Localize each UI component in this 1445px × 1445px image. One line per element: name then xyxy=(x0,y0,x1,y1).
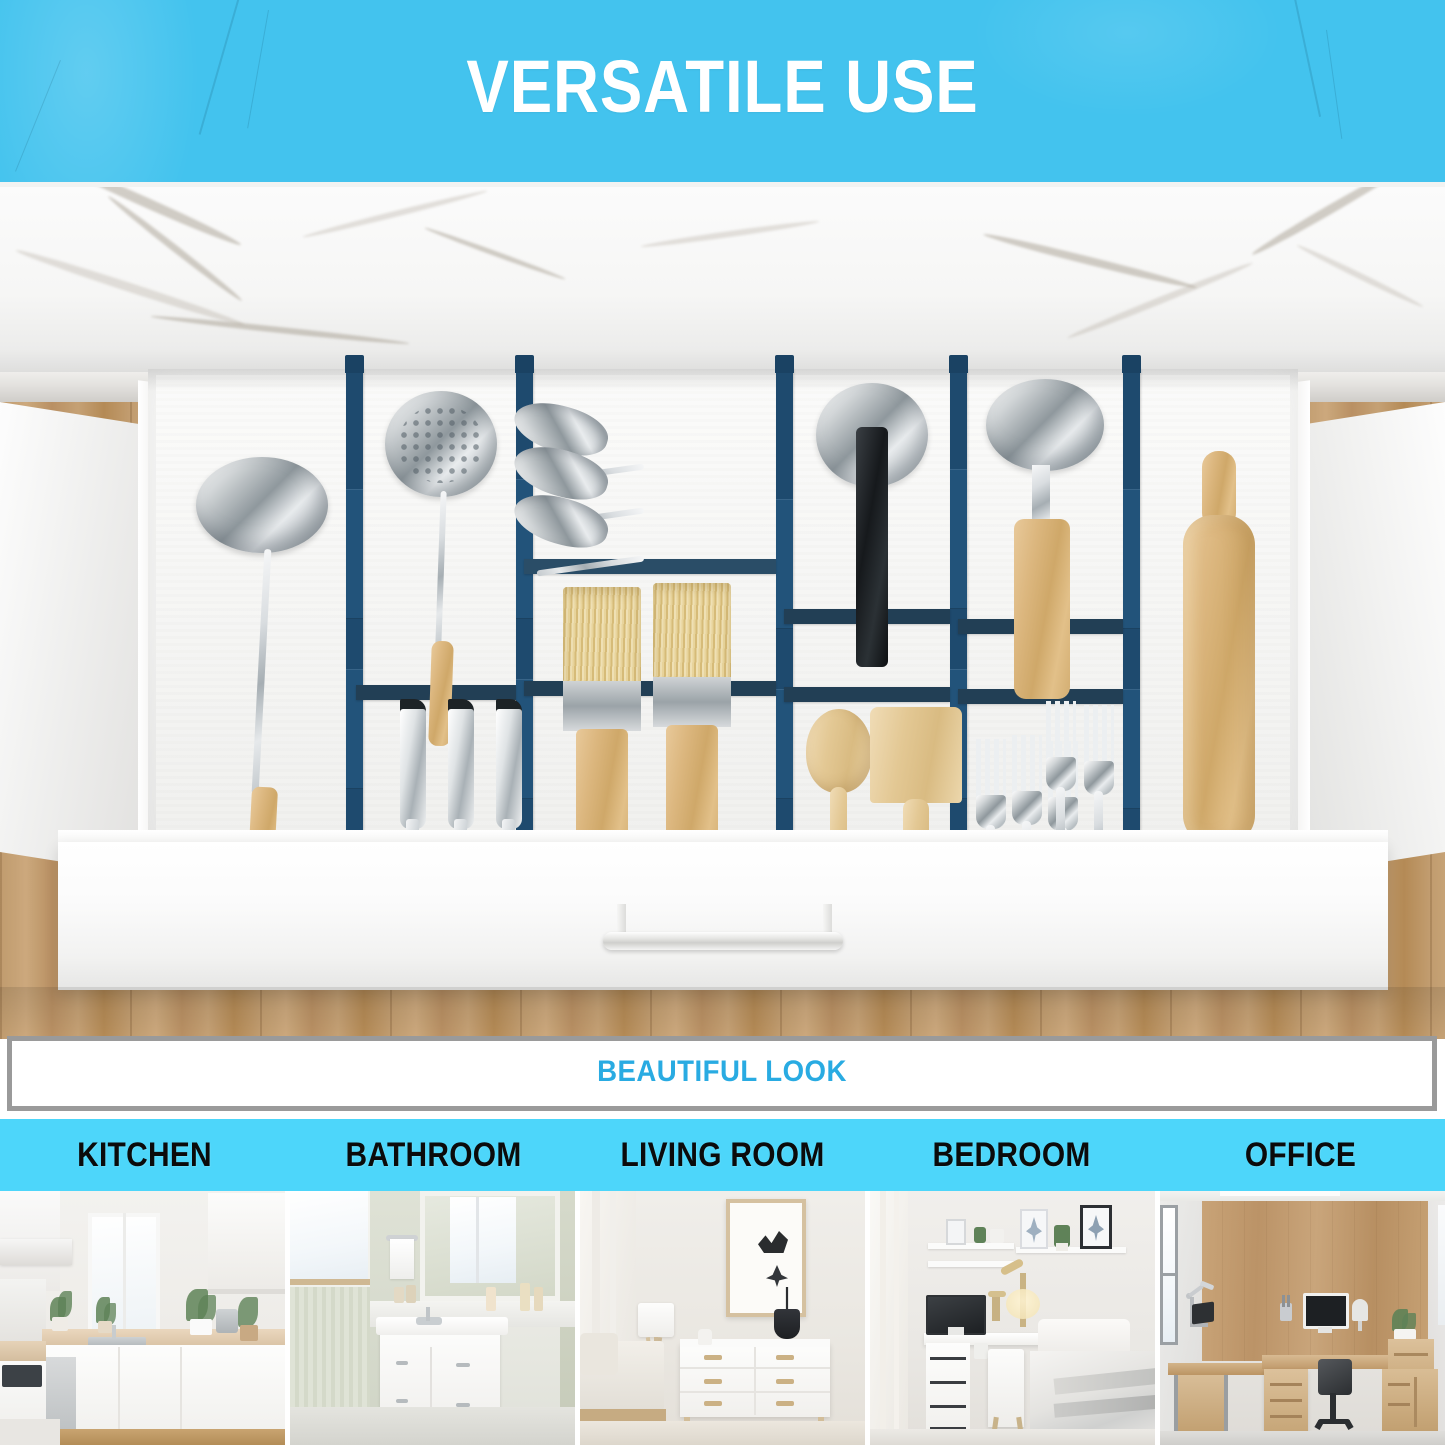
open-drawer xyxy=(148,369,1298,849)
product-hero-image xyxy=(0,187,1445,1039)
drawer-handle-post-left xyxy=(617,904,626,934)
room-label-bathroom: BATHROOM xyxy=(306,1119,560,1191)
marble-countertop xyxy=(0,187,1445,372)
room-labels-band: KITCHEN BATHROOM LIVING ROOM BEDROOM OFF… xyxy=(0,1119,1445,1191)
header-banner: VERSATILE USE xyxy=(0,0,1445,182)
room-photo-bathroom xyxy=(290,1191,575,1445)
beautiful-look-box: BEAUTIFUL LOOK xyxy=(7,1036,1437,1111)
product-infographic: VERSATILE USE xyxy=(0,0,1445,1445)
room-label-bedroom: BEDROOM xyxy=(884,1119,1138,1191)
drawer-divider-horizontal xyxy=(784,687,950,702)
room-photo-living-room xyxy=(580,1191,865,1445)
drawer-divider-vertical xyxy=(776,369,793,847)
room-label-living-room: LIVING ROOM xyxy=(595,1119,849,1191)
drawer-front-panel[interactable] xyxy=(58,842,1388,990)
room-label-kitchen: KITCHEN xyxy=(17,1119,271,1191)
drawer-divider-horizontal xyxy=(524,681,776,696)
drawer-divider-vertical xyxy=(346,369,363,847)
room-photo-bedroom xyxy=(870,1191,1155,1445)
drawer-divider-vertical xyxy=(1123,369,1140,847)
room-photo-kitchen xyxy=(0,1191,285,1445)
drawer-handle[interactable] xyxy=(603,932,843,950)
room-photo-office xyxy=(1160,1191,1445,1445)
page-title: VERSATILE USE xyxy=(101,50,1344,124)
drawer-handle-post-right xyxy=(823,904,832,934)
beautiful-look-label: BEAUTIFUL LOOK xyxy=(69,1057,1375,1087)
room-photos-row xyxy=(0,1191,1445,1445)
floor-shadow xyxy=(0,987,1445,1039)
room-label-office: OFFICE xyxy=(1173,1119,1427,1191)
